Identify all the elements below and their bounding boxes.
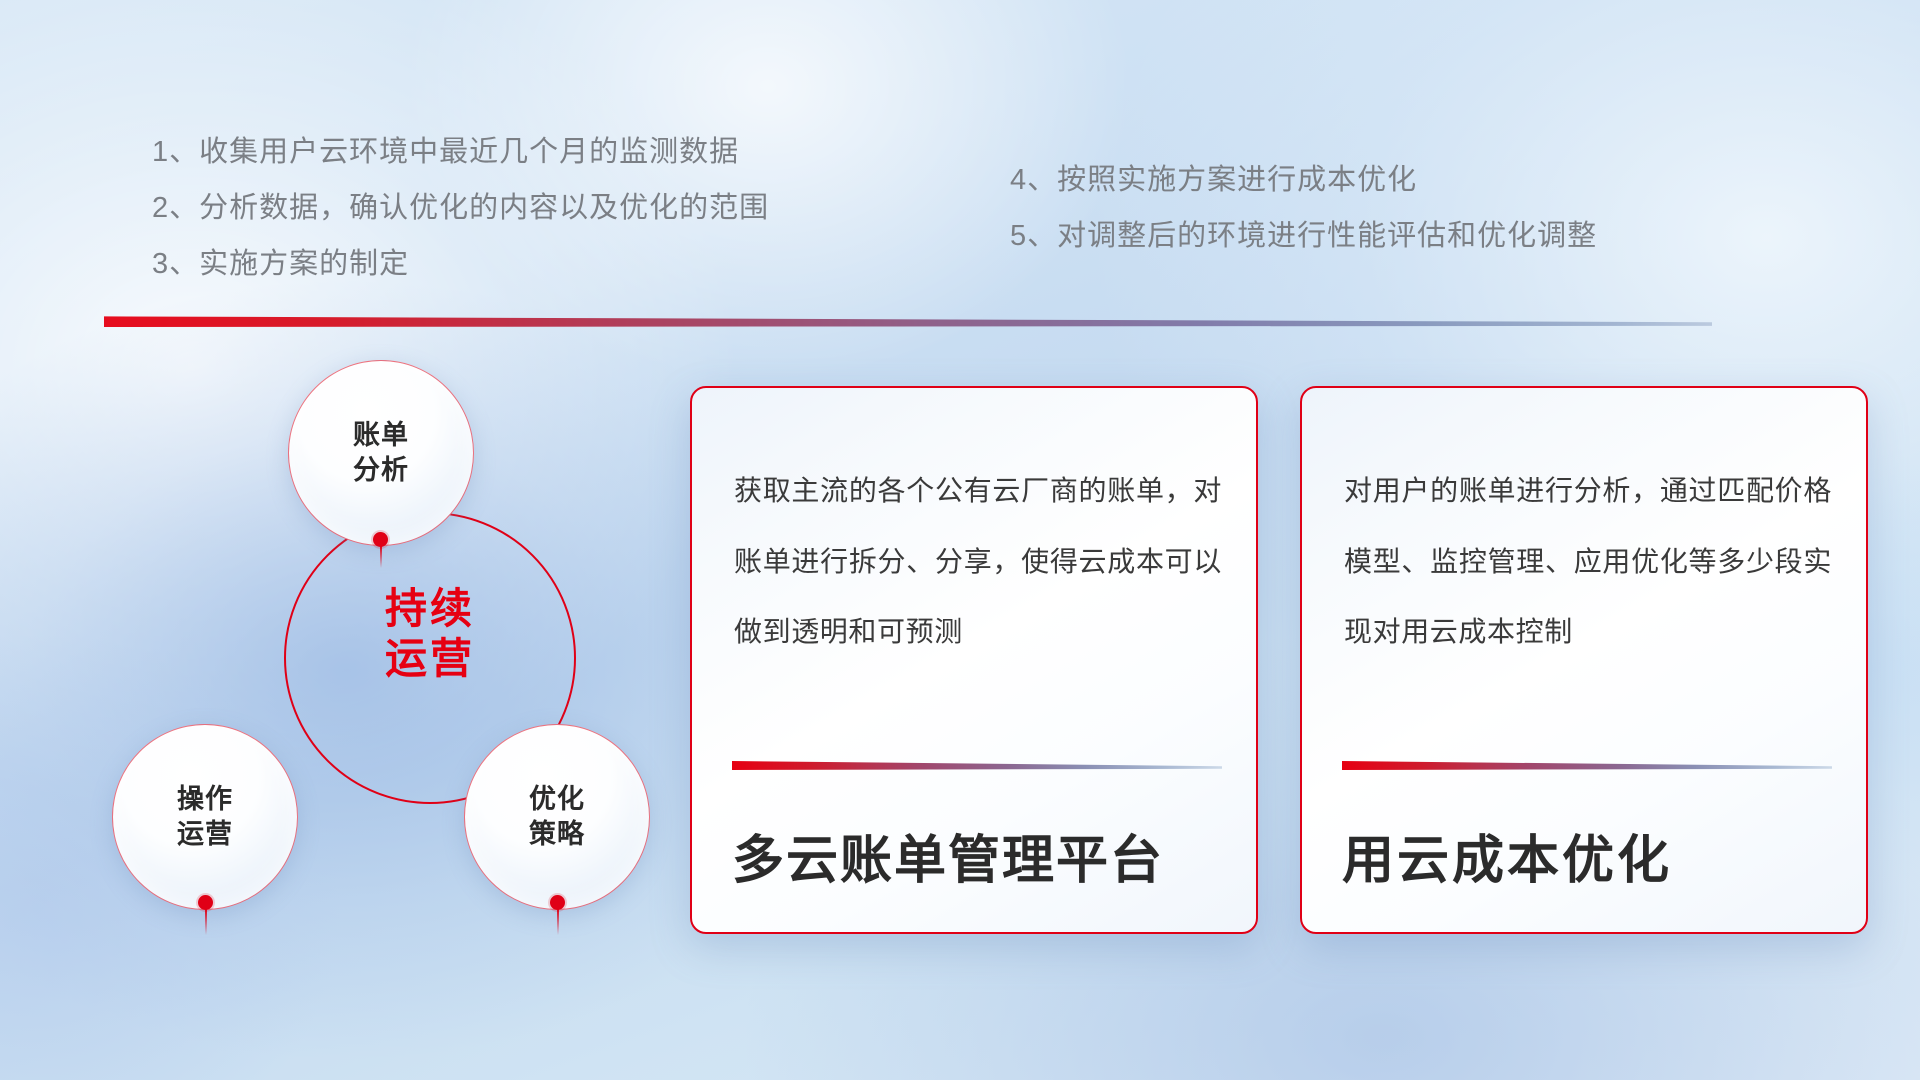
step-item-4: 4、按照实施方案进行成本优化 xyxy=(1010,156,1417,198)
card-title: 用云成本优化 xyxy=(1342,818,1842,893)
diagram-dot-left xyxy=(198,895,213,910)
bubble-line1: 优化 xyxy=(529,782,585,817)
diagram-node-optimization-strategy[interactable]: 优化 策略 xyxy=(464,724,650,910)
bubble-line2: 策略 xyxy=(529,817,585,852)
diagram-dot-top xyxy=(373,532,388,547)
diagram-tail-left xyxy=(205,909,207,935)
bubble-line2: 分析 xyxy=(353,453,409,488)
center-label-line2: 运营 xyxy=(284,634,576,684)
bubble-line1: 账单 xyxy=(353,418,409,453)
cycle-diagram: 持续 运营 账单 分析 操作 运营 优化 策略 xyxy=(88,352,648,952)
step-item-5: 5、对调整后的环境进行性能评估和优化调整 xyxy=(1010,212,1597,254)
bubble-line2: 运营 xyxy=(177,817,233,852)
card-rule xyxy=(1342,760,1832,770)
step-item-3: 3、实施方案的制定 xyxy=(152,240,409,282)
step-item-1: 1、收集用户云环境中最近几个月的监测数据 xyxy=(152,128,739,170)
step-item-2: 2、分析数据，确认优化的内容以及优化的范围 xyxy=(152,184,769,226)
diagram-node-bill-analysis[interactable]: 账单 分析 xyxy=(288,360,474,546)
diagram-dot-right xyxy=(550,895,565,910)
card-rule xyxy=(732,760,1222,770)
card-title: 多云账单管理平台 xyxy=(732,818,1232,893)
feature-card-cloud-cost-optimization[interactable]: 对用户的账单进行分析，通过匹配价格模型、监控管理、应用优化等多少段实现对用云成本… xyxy=(1300,386,1868,934)
bubble-line1: 操作 xyxy=(177,782,233,817)
diagram-node-operations[interactable]: 操作 运营 xyxy=(112,724,298,910)
card-body-text: 获取主流的各个公有云厂商的账单，对账单进行拆分、分享，使得云成本可以做到透明和可… xyxy=(734,456,1222,668)
feature-card-multicloud-billing[interactable]: 获取主流的各个公有云厂商的账单，对账单进行拆分、分享，使得云成本可以做到透明和可… xyxy=(690,386,1258,934)
card-body-text: 对用户的账单进行分析，通过匹配价格模型、监控管理、应用优化等多少段实现对用云成本… xyxy=(1344,456,1832,668)
diagram-center-label: 持续 运营 xyxy=(284,584,576,683)
center-label-line1: 持续 xyxy=(284,584,576,634)
diagram-tail-top xyxy=(380,546,382,568)
diagram-tail-right xyxy=(557,909,559,935)
